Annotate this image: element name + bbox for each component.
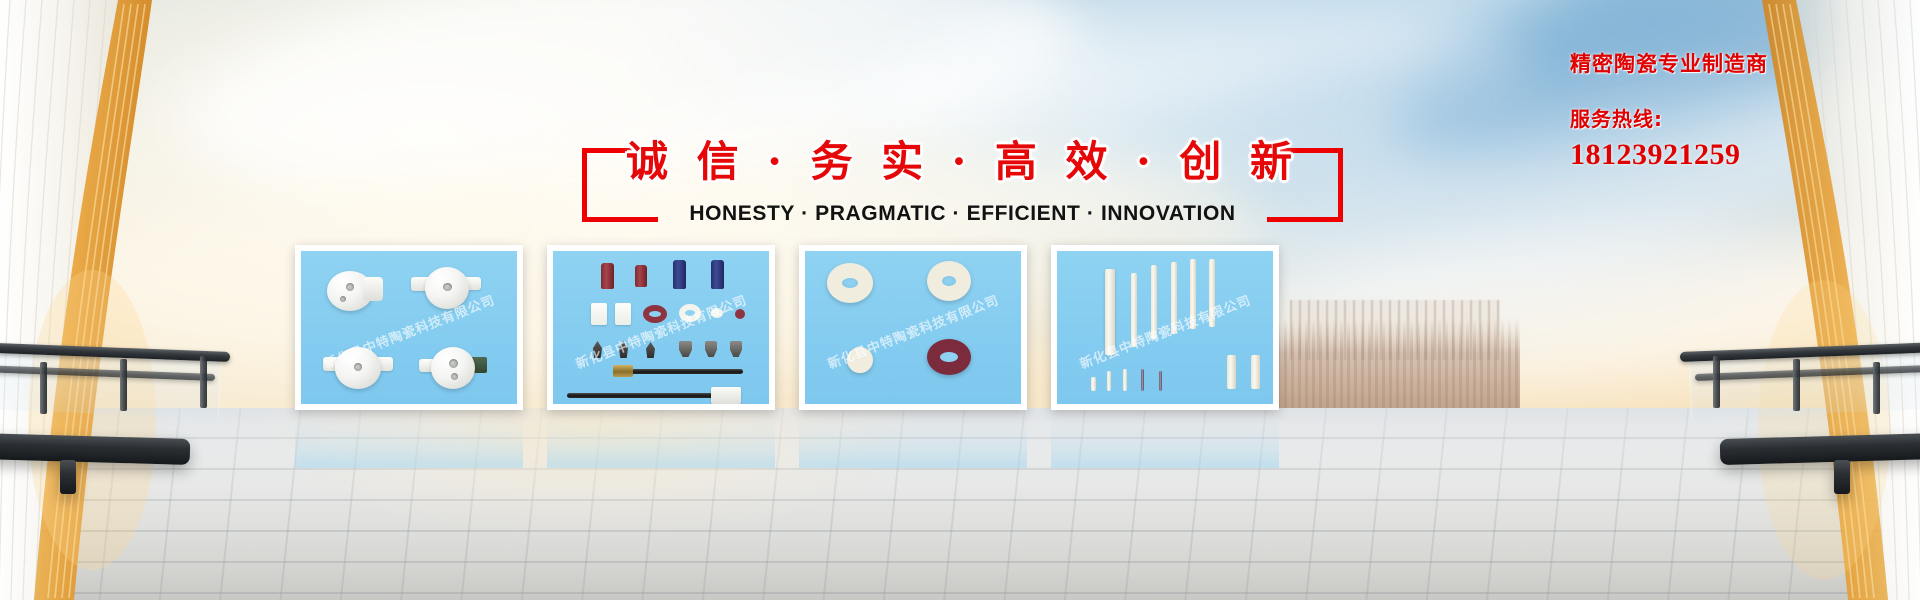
contact-block: 精密陶瓷专业制造商 服务热线: 18123921259 xyxy=(1570,52,1910,172)
ceramic-pin xyxy=(1123,369,1127,391)
contact-blade xyxy=(619,341,628,358)
ceramic-bushing-red xyxy=(601,263,614,289)
wire-connector-block xyxy=(711,387,741,404)
brass-terminal xyxy=(613,365,633,377)
railing-post xyxy=(120,359,127,411)
ceramic-tube xyxy=(1227,355,1236,389)
metal-clip xyxy=(730,341,742,357)
product-panel-row: 新化县中特陶瓷科技有限公司 xyxy=(295,245,1279,410)
contact-blade xyxy=(646,342,655,358)
maker-tagline: 精密陶瓷专业制造商 xyxy=(1570,52,1910,77)
ceramic-rod xyxy=(1171,262,1177,334)
panel-ceramic-lamp-holders[interactable]: 新化县中特陶瓷科技有限公司 xyxy=(295,245,523,410)
lead-wire xyxy=(625,369,743,374)
ceramic-pin-dark xyxy=(1159,371,1162,391)
slogan-english: HONESTY · PRAGMATIC · EFFICIENT · INNOVA… xyxy=(580,202,1345,226)
panel-image-area: 新化县中特陶瓷科技有限公司 xyxy=(805,251,1021,404)
contact-blade xyxy=(593,341,602,358)
terrace-bench-right xyxy=(1720,433,1920,465)
ceramic-ring-small-white xyxy=(711,308,723,318)
panel-image-area: 新化县中特陶瓷科技有限公司 xyxy=(553,251,769,404)
ceramic-rod xyxy=(1105,269,1115,355)
ceramic-ring-small-red xyxy=(735,309,745,319)
ceramic-lamp-holder xyxy=(425,267,469,309)
ceramic-tube xyxy=(1251,355,1260,389)
terrace-floor xyxy=(0,408,1920,600)
lead-wire xyxy=(567,393,715,398)
ceramic-lamp-holder xyxy=(335,347,381,389)
ceramic-seal-ring-maroon xyxy=(927,339,971,375)
ceramic-ring-small xyxy=(847,347,873,373)
ceramic-rod xyxy=(1209,259,1215,327)
metal-clip xyxy=(705,341,717,357)
ceramic-pin-dark xyxy=(1141,369,1144,391)
railing-post xyxy=(40,362,47,414)
ceramic-bushing-red xyxy=(635,265,647,287)
panel-ceramic-rings-and-seals[interactable]: 新化县中特陶瓷科技有限公司 xyxy=(799,245,1027,410)
ceramic-pin xyxy=(1107,371,1111,391)
panel-ceramic-insulators-and-leads[interactable]: 新化县中特陶瓷科技有限公司 xyxy=(547,245,775,410)
railing-post xyxy=(1713,356,1720,408)
ceramic-ring-white xyxy=(679,304,701,322)
ceramic-lamp-holder xyxy=(431,347,475,389)
ceramic-rod xyxy=(1131,273,1137,347)
panel-image-area: 新化县中特陶瓷科技有限公司 xyxy=(1057,251,1273,404)
ceramic-rod xyxy=(1190,259,1196,329)
railing-post xyxy=(1793,359,1800,411)
railing-post xyxy=(200,356,207,408)
panel-image-area: 新化县中特陶瓷科技有限公司 xyxy=(301,251,517,404)
ceramic-bushing-blue xyxy=(711,260,724,289)
ceramic-bushing-blue xyxy=(673,260,686,289)
railing-post xyxy=(1873,362,1880,414)
slogan-chinese: 诚 信 · 务 实 · 高 效 · 创 新 xyxy=(580,128,1345,189)
ceramic-ring-large xyxy=(827,263,873,303)
metal-clip xyxy=(679,341,692,357)
terrace-bench-left xyxy=(0,433,190,465)
hotline-label: 服务热线: xyxy=(1570,103,1910,132)
ceramic-ring-red xyxy=(643,305,667,323)
hero-banner: 诚 信 · 务 实 · 高 效 · 创 新 HONESTY · PRAGMATI… xyxy=(0,0,1920,600)
ceramic-insulator-plate xyxy=(615,303,631,325)
terrace-bench-right-leg xyxy=(1834,460,1850,494)
ceramic-insulator-plate xyxy=(591,303,607,325)
ceramic-rod xyxy=(1151,265,1157,339)
ceramic-pin xyxy=(1091,377,1096,391)
slogan-block: 诚 信 · 务 实 · 高 效 · 创 新 HONESTY · PRAGMATI… xyxy=(580,140,1345,235)
panel-ceramic-rods-and-pins[interactable]: 新化县中特陶瓷科技有限公司 xyxy=(1051,245,1279,410)
terrace-bench-left-leg xyxy=(60,460,76,494)
hotline-number[interactable]: 18123921259 xyxy=(1570,138,1910,172)
panel-watermark: 新化县中特陶瓷科技有限公司 xyxy=(573,289,750,372)
distant-city-haze xyxy=(1270,318,1520,418)
ceramic-lamp-holder-body xyxy=(363,277,383,301)
ceramic-ring-large xyxy=(927,261,971,301)
